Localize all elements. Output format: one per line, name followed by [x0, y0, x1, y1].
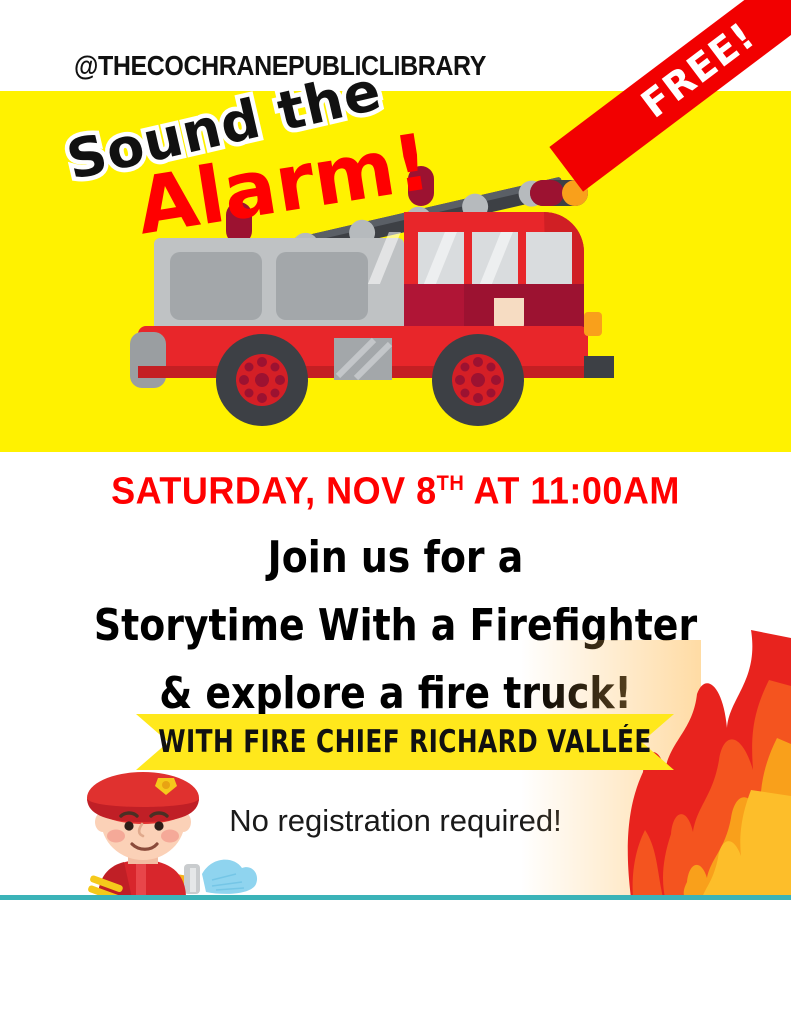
- chief-name-banner: WITH FIRE CHIEF RICHARD VALLÉE: [136, 714, 674, 770]
- library-social-handle: @THECOCHRANEPUBLICLIBRARY: [0, 50, 560, 82]
- footer: COCHRANE public library wwww.cochranepub…: [0, 900, 791, 1024]
- date-prefix: SATURDAY, NOV 8: [111, 469, 437, 512]
- event-date-time: SATURDAY, NOV 8TH AT 11:00AM: [0, 469, 791, 514]
- fire-truck-icon: [118, 160, 648, 430]
- date-ordinal-suffix: TH: [437, 472, 465, 495]
- chief-name-label: WITH FIRE CHIEF RICHARD VALLÉE: [190, 714, 620, 770]
- date-suffix: AT 11:00AM: [464, 469, 680, 512]
- footer-divider: [0, 895, 791, 900]
- firefighter-boy-icon: [46, 752, 261, 898]
- event-poster: @THECOCHRANEPUBLICLIBRARY: [0, 0, 791, 1024]
- body-line-1: Join us for a: [55, 532, 735, 583]
